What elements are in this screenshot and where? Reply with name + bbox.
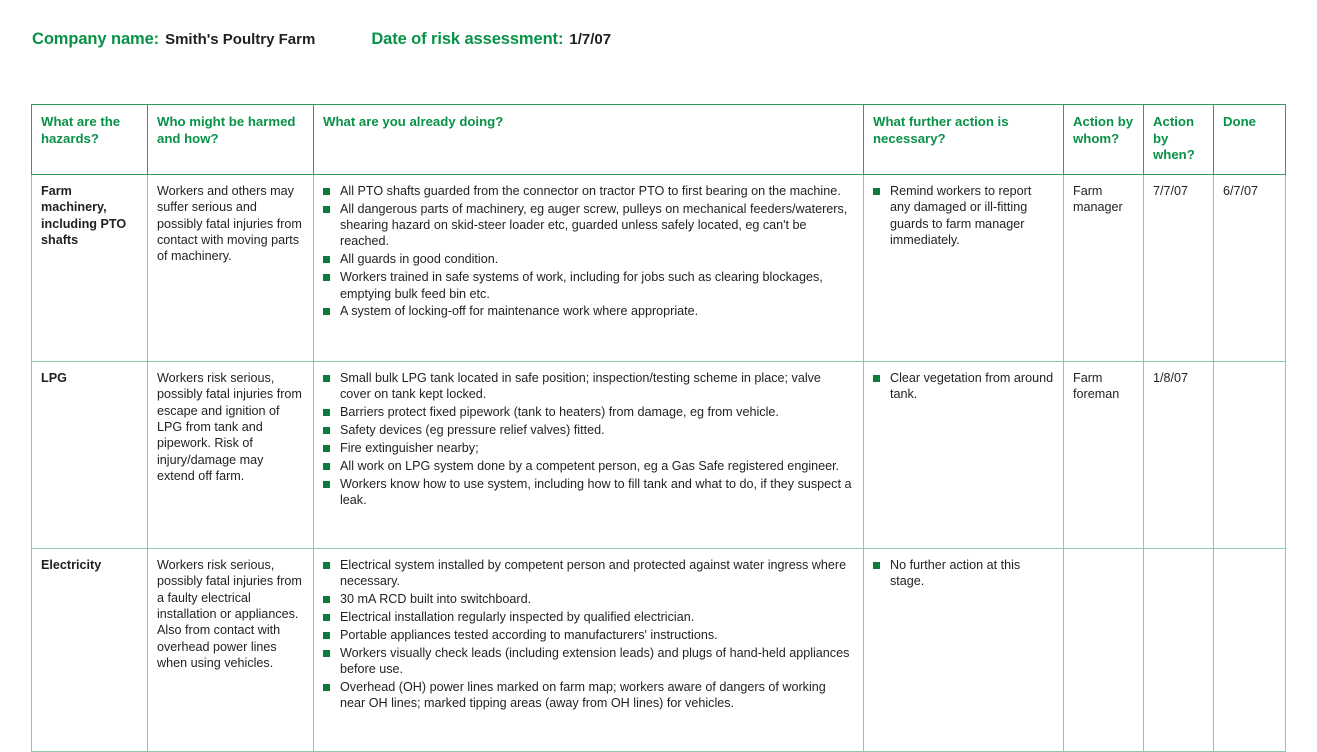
list-item: All work on LPG system done by a compete…: [323, 458, 854, 474]
column-header-action-by-whom: Action by whom?: [1064, 105, 1144, 175]
who-harmed-text: Workers risk serious, possibly fatal inj…: [157, 370, 304, 485]
column-header-hazards: What are the hazards?: [32, 105, 148, 175]
assessment-date-label: Date of risk assessment:: [371, 30, 563, 49]
assessment-date-value: 1/7/07: [569, 31, 611, 48]
column-header-already-doing: What are you already doing?: [314, 105, 864, 175]
cell-action-by-whom: Farm foreman: [1064, 361, 1144, 548]
list-item: Electrical system installed by competent…: [323, 557, 854, 590]
table-row: Electricity Workers risk serious, possib…: [32, 548, 1286, 751]
cell-who-harmed: Workers and others may suffer serious an…: [148, 174, 314, 361]
cell-done: [1214, 548, 1286, 751]
who-harmed-text: Workers risk serious, possibly fatal inj…: [157, 557, 304, 672]
already-doing-list: All PTO shafts guarded from the connecto…: [323, 183, 854, 320]
cell-further-action: No further action at this stage.: [864, 548, 1064, 751]
table-row: Farm machinery, including PTO shafts Wor…: [32, 174, 1286, 361]
column-header-action-by-when: Action by when?: [1144, 105, 1214, 175]
cell-already-doing: All PTO shafts guarded from the connecto…: [314, 174, 864, 361]
list-item: A system of locking-off for maintenance …: [323, 303, 854, 319]
cell-already-doing: Electrical system installed by competent…: [314, 548, 864, 751]
column-header-further-action: What further action is necessary?: [864, 105, 1064, 175]
column-header-done: Done: [1214, 105, 1286, 175]
cell-action-by-whom: Farm manager: [1064, 174, 1144, 361]
list-item: Clear vegetation from around tank.: [873, 370, 1054, 403]
already-doing-list: Small bulk LPG tank located in safe posi…: [323, 370, 854, 508]
list-item: Workers trained in safe systems of work,…: [323, 269, 854, 302]
cell-who-harmed: Workers risk serious, possibly fatal inj…: [148, 361, 314, 548]
table-header-row: What are the hazards? Who might be harme…: [32, 105, 1286, 175]
list-item: Overhead (OH) power lines marked on farm…: [323, 679, 854, 712]
table-row: LPG Workers risk serious, possibly fatal…: [32, 361, 1286, 548]
company-name-group: Company name: Smith's Poultry Farm: [32, 30, 315, 49]
cell-done: 6/7/07: [1214, 174, 1286, 361]
cell-action-by-whom: [1064, 548, 1144, 751]
already-doing-list: Electrical system installed by competent…: [323, 557, 854, 712]
list-item: Barriers protect fixed pipework (tank to…: [323, 404, 854, 420]
further-action-list: Clear vegetation from around tank.: [873, 370, 1054, 403]
cell-hazard: Electricity: [32, 548, 148, 751]
cell-already-doing: Small bulk LPG tank located in safe posi…: [314, 361, 864, 548]
company-name-value: Smith's Poultry Farm: [165, 31, 315, 48]
list-item: No further action at this stage.: [873, 557, 1054, 590]
document-header: Company name: Smith's Poultry Farm Date …: [32, 30, 611, 49]
risk-assessment-table: What are the hazards? Who might be harme…: [31, 104, 1286, 752]
list-item: Safety devices (eg pressure relief valve…: [323, 422, 854, 438]
further-action-list: No further action at this stage.: [873, 557, 1054, 590]
list-item: All guards in good condition.: [323, 251, 854, 267]
list-item: All dangerous parts of machinery, eg aug…: [323, 201, 854, 250]
list-item: Workers know how to use system, includin…: [323, 476, 854, 509]
list-item: 30 mA RCD built into switchboard.: [323, 591, 854, 607]
list-item: Portable appliances tested according to …: [323, 627, 854, 643]
cell-action-by-when: 7/7/07: [1144, 174, 1214, 361]
cell-further-action: Remind workers to report any damaged or …: [864, 174, 1064, 361]
who-harmed-text: Workers and others may suffer serious an…: [157, 183, 304, 265]
cell-hazard: LPG: [32, 361, 148, 548]
table-header: What are the hazards? Who might be harme…: [32, 105, 1286, 175]
cell-who-harmed: Workers risk serious, possibly fatal inj…: [148, 548, 314, 751]
cell-action-by-when: 1/8/07: [1144, 361, 1214, 548]
assessment-date-group: Date of risk assessment: 1/7/07: [371, 30, 611, 49]
list-item: Fire extinguisher nearby;: [323, 440, 854, 456]
table-body: Farm machinery, including PTO shafts Wor…: [32, 174, 1286, 751]
cell-done: [1214, 361, 1286, 548]
company-name-label: Company name:: [32, 30, 159, 49]
list-item: Remind workers to report any damaged or …: [873, 183, 1054, 248]
cell-further-action: Clear vegetation from around tank.: [864, 361, 1064, 548]
list-item: All PTO shafts guarded from the connecto…: [323, 183, 854, 199]
cell-action-by-when: [1144, 548, 1214, 751]
further-action-list: Remind workers to report any damaged or …: [873, 183, 1054, 248]
list-item: Small bulk LPG tank located in safe posi…: [323, 370, 854, 403]
list-item: Workers visually check leads (including …: [323, 645, 854, 678]
list-item: Electrical installation regularly inspec…: [323, 609, 854, 625]
column-header-who-harmed: Who might be harmed and how?: [148, 105, 314, 175]
cell-hazard: Farm machinery, including PTO shafts: [32, 174, 148, 361]
